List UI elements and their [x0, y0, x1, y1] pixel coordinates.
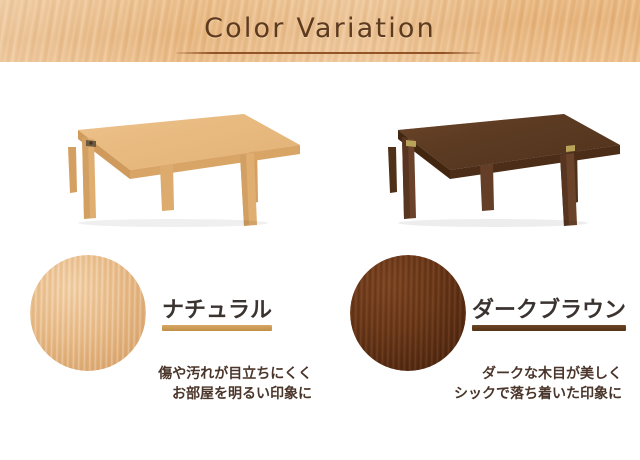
variation-column-dark-brown: ダークブラウン ダークな木目が美しく シックで落ち着いた印象に: [320, 62, 640, 460]
color-description-natural: 傷や汚れが目立ちにくく お部屋を明るい印象に: [122, 365, 312, 405]
description-line: 傷や汚れが目立ちにくく: [122, 365, 312, 385]
product-photo-dark-brown: [328, 92, 632, 227]
color-label-dark-brown: ダークブラウン: [472, 299, 626, 331]
color-label-natural-text: ナチュラル: [162, 299, 272, 322]
color-label-dark-brown-underline: [472, 325, 626, 331]
color-label-natural-underline: [162, 325, 272, 331]
dark-brown-table-illustration: [328, 92, 632, 227]
dark-brown-wood-swatch: [350, 255, 466, 371]
natural-swatch-grain: [30, 255, 146, 371]
variation-column-natural: ナチュラル 傷や汚れが目立ちにくく お部屋を明るい印象に: [0, 62, 320, 460]
natural-table-illustration: [8, 92, 312, 227]
description-line: お部屋を明るい印象に: [122, 385, 312, 405]
header-band: Color Variation: [0, 0, 640, 62]
description-line: ダークな木目が美しく: [432, 365, 622, 385]
color-variation-page: Color Variation: [0, 0, 640, 460]
dark-brown-swatch-grain: [350, 255, 466, 371]
natural-wood-swatch: [30, 255, 146, 371]
product-photo-natural: [8, 92, 312, 227]
color-description-dark-brown: ダークな木目が美しく シックで落ち着いた印象に: [432, 365, 622, 405]
color-label-dark-brown-text: ダークブラウン: [472, 299, 626, 322]
title-underline-rule: [176, 52, 480, 54]
description-line: シックで落ち着いた印象に: [432, 385, 622, 405]
color-label-natural: ナチュラル: [162, 299, 272, 331]
page-title: Color Variation: [0, 13, 640, 44]
